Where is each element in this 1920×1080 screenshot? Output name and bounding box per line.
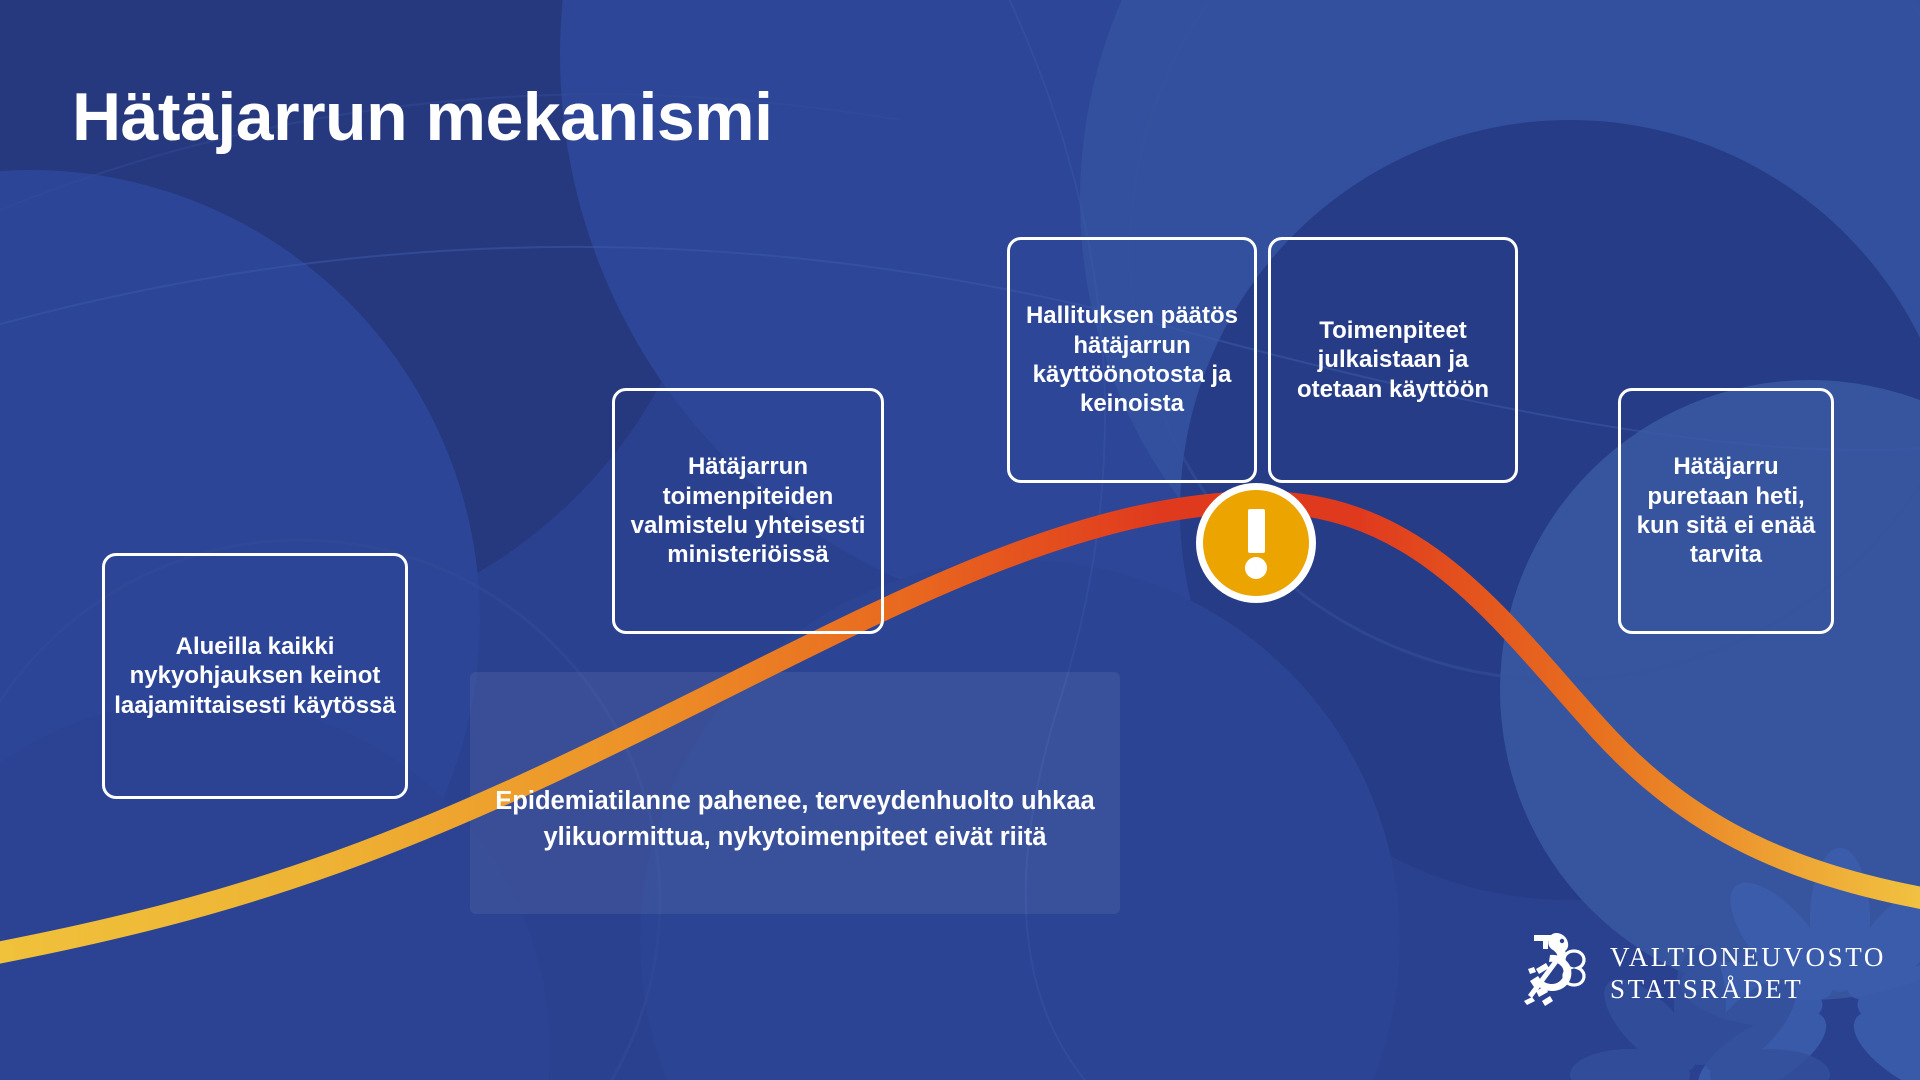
slide-root: Hätäjarrun mekanismi Epidemiatilanne pah…: [0, 0, 1920, 1080]
step-box-4[interactable]: Toimenpiteet julkaistaan ja otetaan käyt…: [1268, 237, 1518, 483]
step-box-1[interactable]: Alueilla kaikki nykyohjauksen keinot laa…: [102, 553, 408, 799]
step-box-2-label: Hätäjarrun toimenpiteiden valmistelu yht…: [623, 452, 873, 569]
step-box-5[interactable]: Hätäjarru puretaan heti, kun sitä ei enä…: [1618, 388, 1834, 634]
logo-wordmark: VALTIONEUVOSTO STATSRÅDET: [1610, 941, 1886, 1005]
step-box-4-label: Toimenpiteet julkaistaan ja otetaan käyt…: [1279, 316, 1507, 404]
finnish-lion-crest-icon: [1520, 925, 1592, 1021]
step-box-3-label: Hallituksen päätös hätäjarrun käyttöönot…: [1018, 301, 1246, 418]
step-box-1-label: Alueilla kaikki nykyohjauksen keinot laa…: [113, 632, 397, 720]
logo-line-sv: STATSRÅDET: [1610, 973, 1886, 1005]
step-box-5-label: Hätäjarru puretaan heti, kun sitä ei enä…: [1629, 452, 1823, 569]
step-box-3[interactable]: Hallituksen päätös hätäjarrun käyttöönot…: [1007, 237, 1257, 483]
exclamation-icon: [1196, 483, 1316, 603]
step-box-2[interactable]: Hätäjarrun toimenpiteiden valmistelu yht…: [612, 388, 884, 634]
caption-text: Epidemiatilanne pahenee, terveydenhuolto…: [470, 783, 1120, 855]
exclamation-icon-bar: [1248, 509, 1265, 553]
logo-line-fi: VALTIONEUVOSTO: [1610, 941, 1886, 973]
valtioneuvosto-logo: VALTIONEUVOSTO STATSRÅDET: [1520, 925, 1886, 1021]
exclamation-icon-dot: [1245, 557, 1267, 579]
